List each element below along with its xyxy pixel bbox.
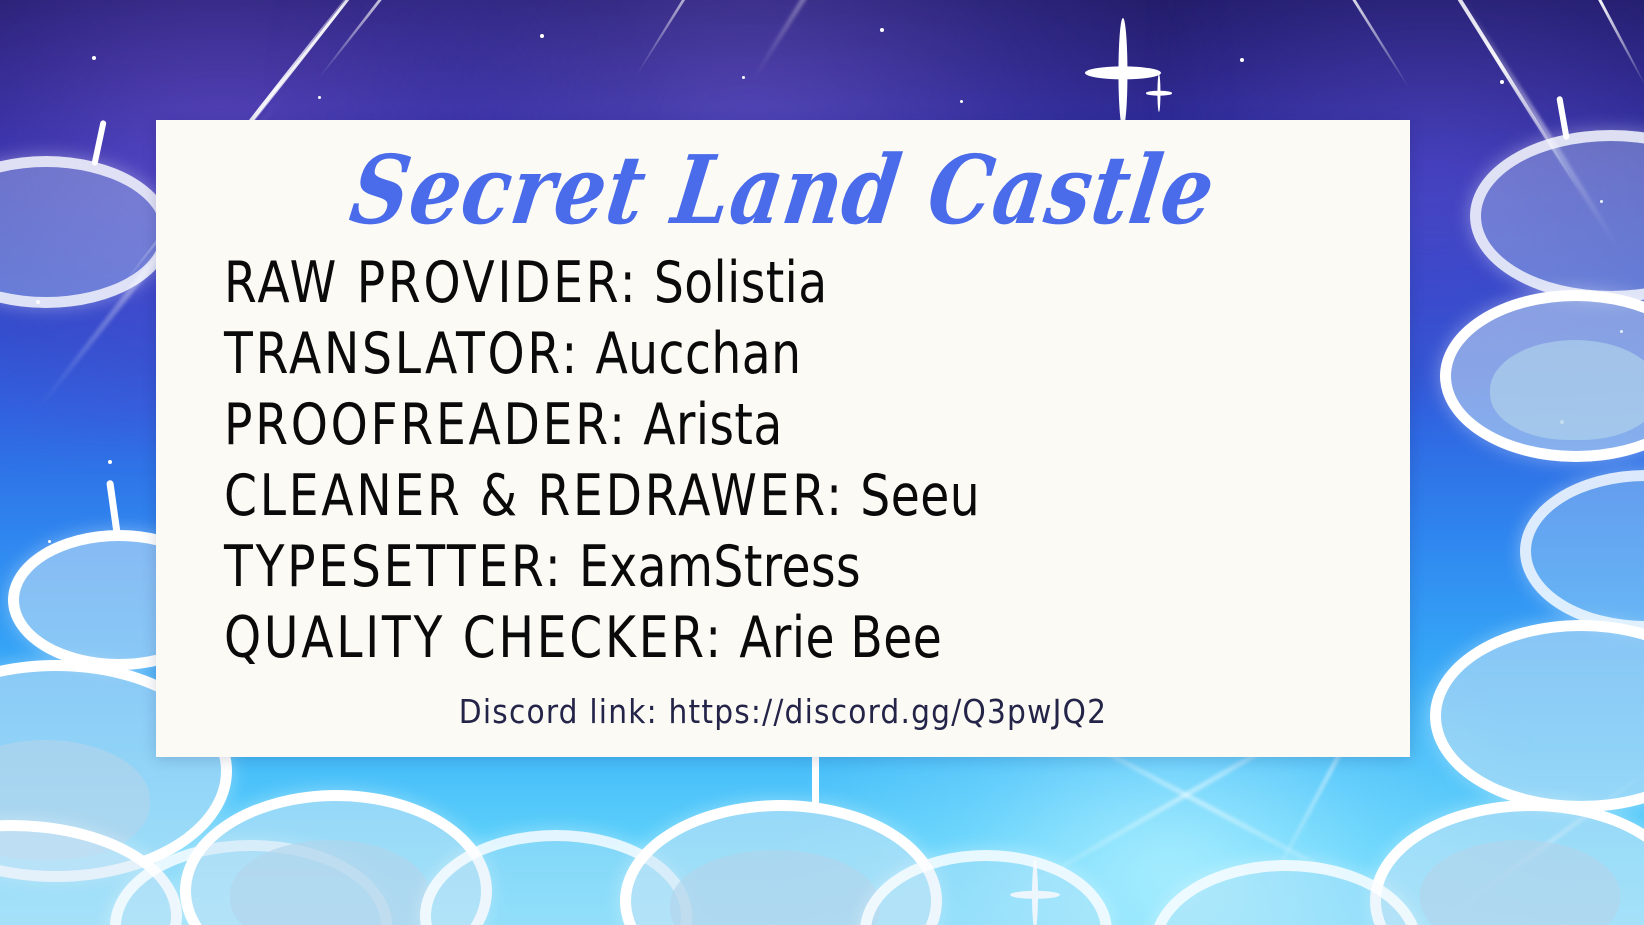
- island-rock: [1490, 340, 1644, 440]
- credit-row-proofreader: PROOFREADER: Arista: [224, 390, 1278, 461]
- credit-name-value: ExamStress: [579, 534, 861, 600]
- credits-list: RAW PROVIDER: Solistia TRANSLATOR: Aucch…: [224, 248, 1370, 674]
- credit-name-value: Arie Bee: [739, 605, 942, 671]
- discord-link[interactable]: Discord link: https://discord.gg/Q3pwJQ2: [156, 692, 1410, 731]
- page-title: Secret Land Castle: [149, 143, 1416, 237]
- credit-role-label: CLEANER & REDRAWER:: [224, 463, 845, 529]
- credit-name-value: Seeu: [860, 463, 980, 529]
- credit-name-value: Arista: [643, 392, 782, 458]
- credit-role-label: TYPESETTER:: [224, 534, 564, 600]
- credit-row-typesetter: TYPESETTER: ExamStress: [224, 532, 1278, 603]
- credits-page: Secret Land Castle RAW PROVIDER: Solisti…: [0, 0, 1644, 925]
- credits-panel: Secret Land Castle RAW PROVIDER: Solisti…: [156, 120, 1410, 757]
- credit-name-value: Solistia: [654, 250, 828, 316]
- credit-row-cleaner-redrawer: CLEANER & REDRAWER: Seeu: [224, 461, 1278, 532]
- credit-name-value: Aucchan: [595, 321, 801, 387]
- credit-row-quality-checker: QUALITY CHECKER: Arie Bee: [224, 603, 1278, 674]
- cloud-stem: [812, 752, 819, 808]
- credit-role-label: PROOFREADER:: [224, 392, 628, 458]
- credit-row-translator: TRANSLATOR: Aucchan: [224, 319, 1278, 390]
- credit-row-raw-provider: RAW PROVIDER: Solistia: [224, 248, 1278, 319]
- credit-role-label: TRANSLATOR:: [224, 321, 580, 387]
- credit-role-label: QUALITY CHECKER:: [224, 605, 724, 671]
- credit-role-label: RAW PROVIDER:: [224, 250, 638, 316]
